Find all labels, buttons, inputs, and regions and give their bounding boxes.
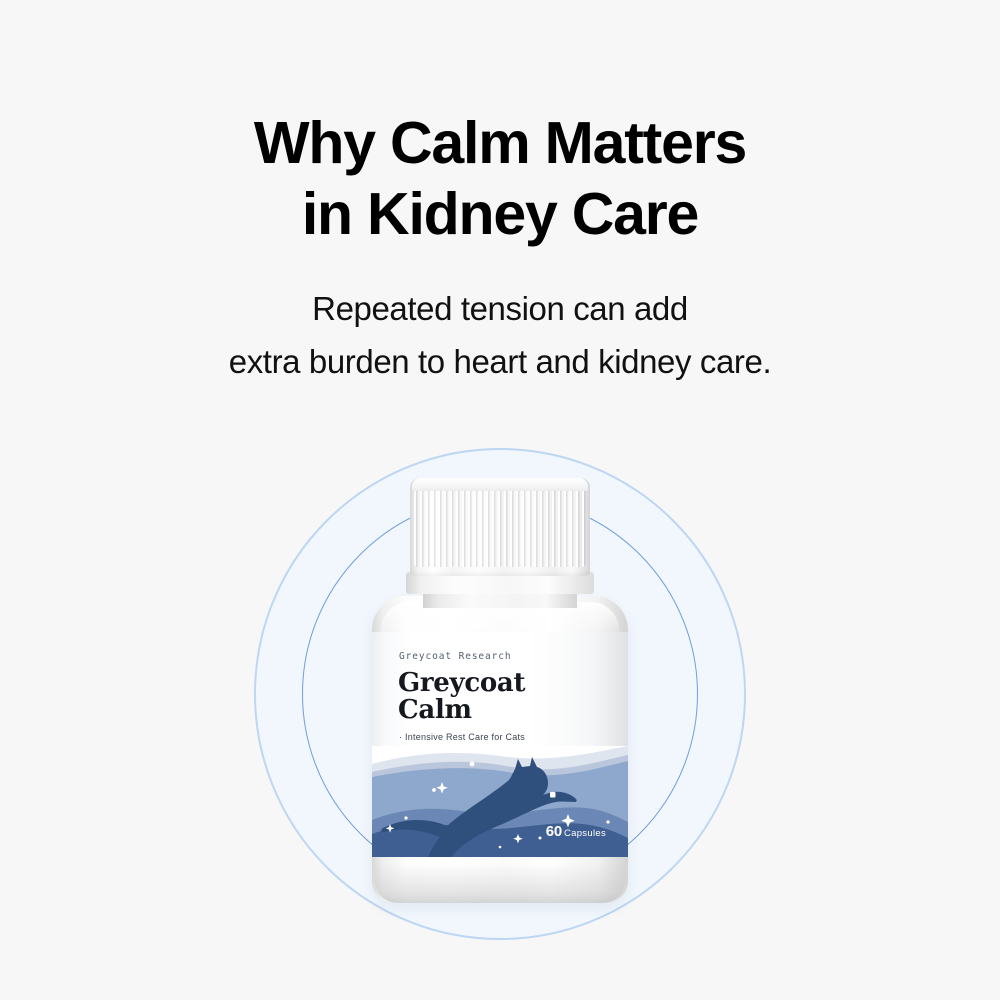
page-subtitle-line1: Repeated tension can add bbox=[0, 282, 1000, 335]
hero-text-block: Why Calm Matters in Kidney Care Repeated… bbox=[0, 0, 1000, 388]
capsule-count-unit: Capsules bbox=[564, 828, 606, 839]
bottle-cap bbox=[410, 478, 590, 576]
page-subtitle-line2: extra burden to heart and kidney care. bbox=[0, 335, 1000, 388]
page-subtitle: Repeated tension can add extra burden to… bbox=[0, 250, 1000, 388]
page-title-line1: Why Calm Matters bbox=[0, 108, 1000, 179]
label-tagline: · Intensive Rest Care for Cats bbox=[399, 732, 525, 742]
label-product-name-line1: Greycoat bbox=[398, 670, 525, 697]
cap-ribbing bbox=[414, 488, 586, 567]
bottle-bottom-shading bbox=[375, 863, 625, 903]
product-bottle: Greycoat Research Greycoat Calm · Intens… bbox=[371, 478, 629, 903]
page-title-line2: in Kidney Care bbox=[0, 179, 1000, 250]
capsule-count: 60Capsules bbox=[546, 823, 606, 841]
cap-top-highlight bbox=[412, 478, 588, 491]
capsule-count-number: 60 bbox=[546, 823, 562, 840]
label-product-name: Greycoat Calm bbox=[398, 670, 525, 724]
label-brand-name: Greycoat Research bbox=[399, 651, 512, 662]
product-label: Greycoat Research Greycoat Calm · Intens… bbox=[372, 632, 628, 857]
label-product-name-line2: Calm bbox=[398, 697, 525, 724]
page-title: Why Calm Matters in Kidney Care bbox=[0, 0, 1000, 250]
